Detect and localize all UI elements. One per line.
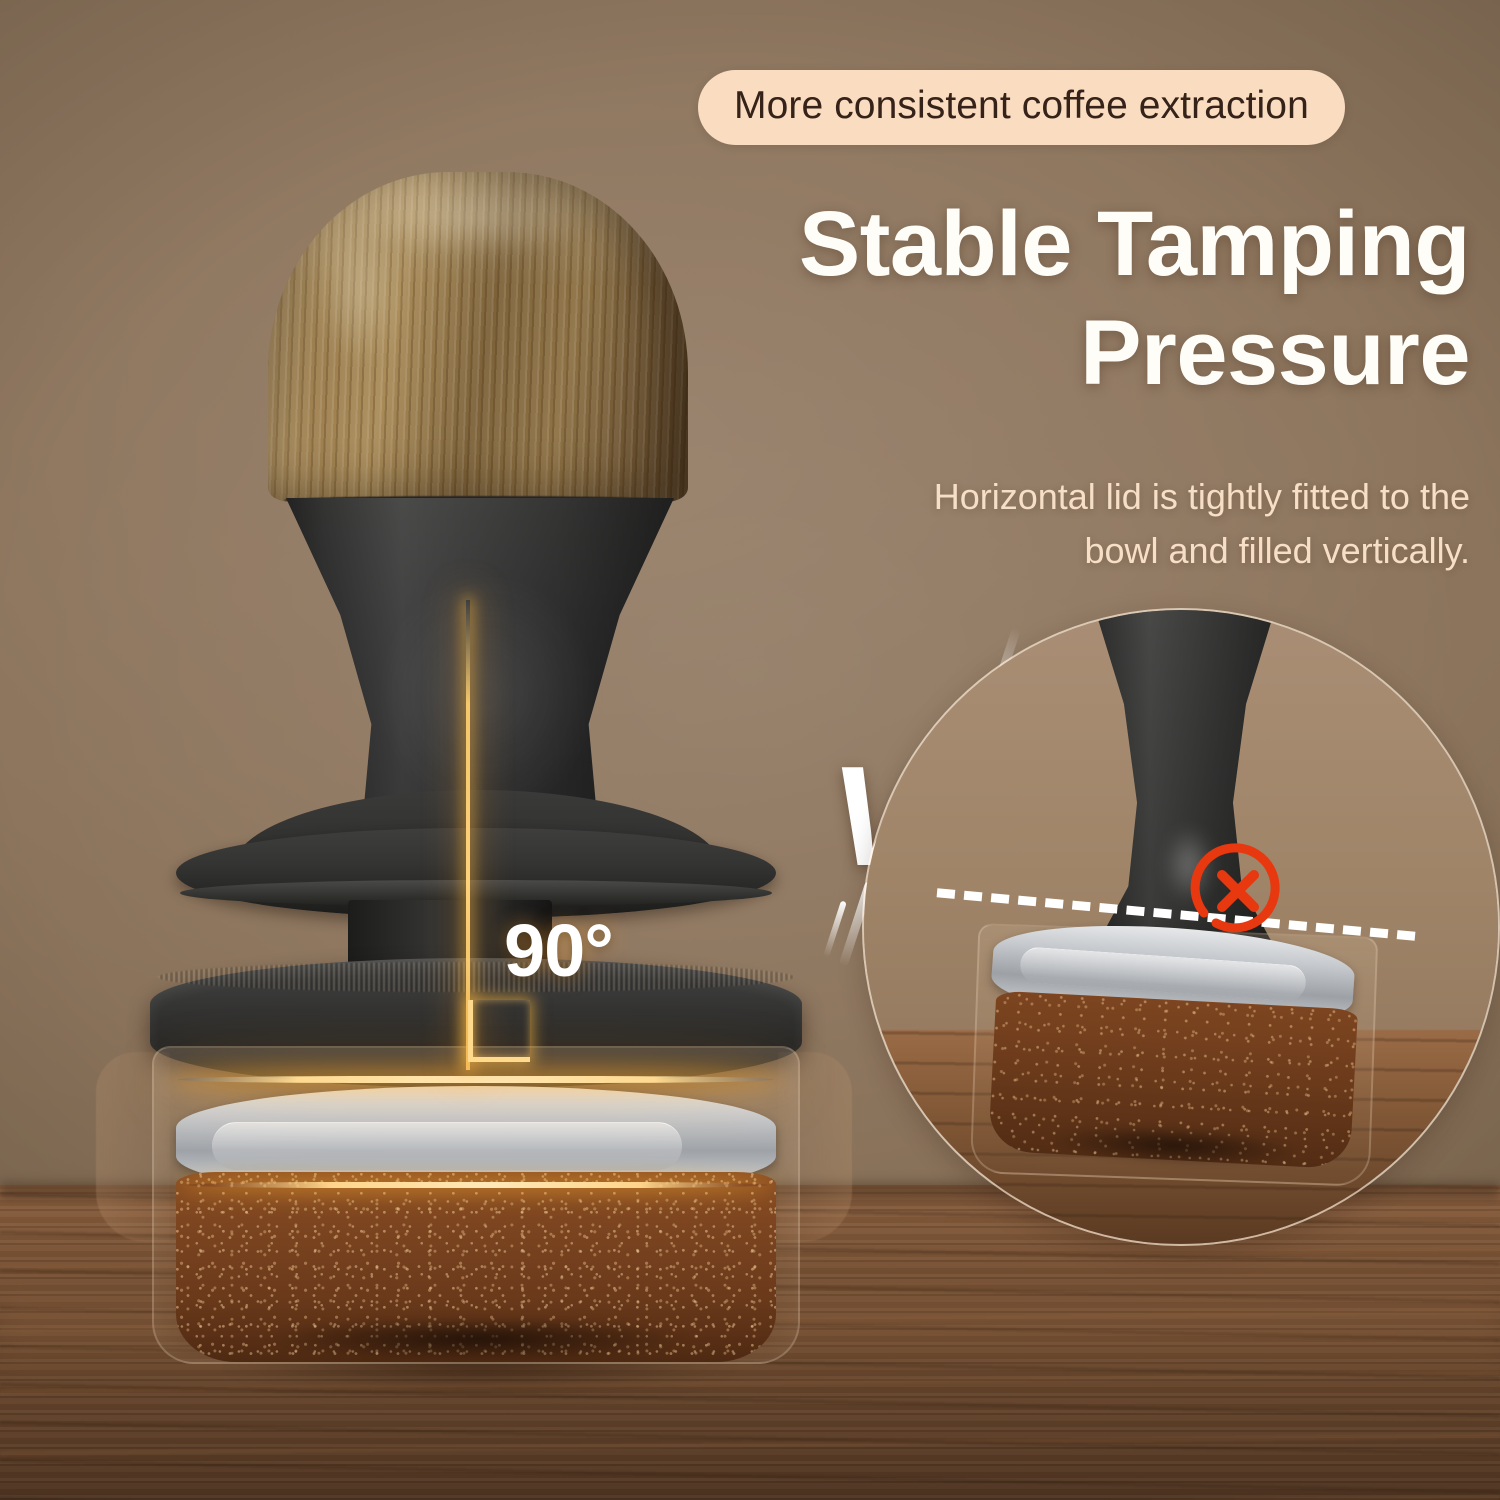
golden-puck-glow bbox=[186, 1182, 768, 1188]
coffee-puck-shadow bbox=[182, 1318, 772, 1370]
description-line-2: bowl and filled vertically. bbox=[640, 524, 1470, 578]
description-line-1: Horizontal lid is tightly fitted to the bbox=[640, 470, 1470, 524]
headline-line-1: Stable Tamping bbox=[600, 190, 1470, 299]
circle-x-icon bbox=[1182, 835, 1294, 947]
collar-knurl-texture bbox=[158, 962, 794, 992]
comparison-inset-circle bbox=[862, 608, 1500, 1246]
headline-line-2: Pressure bbox=[600, 299, 1470, 408]
feature-badge: More consistent coffee extraction bbox=[698, 70, 1345, 145]
knob-side-highlight bbox=[300, 200, 420, 420]
feature-description: Horizontal lid is tightly fitted to the … bbox=[640, 470, 1470, 578]
product-feature-image: 90° VS bbox=[0, 0, 1500, 1500]
golden-level-glow bbox=[178, 1076, 774, 1083]
inset-scene bbox=[864, 610, 1498, 1244]
right-angle-icon bbox=[468, 1000, 530, 1062]
page-title: Stable Tamping Pressure bbox=[600, 190, 1470, 407]
angle-label: 90° bbox=[504, 908, 613, 993]
stainless-base-groove bbox=[212, 1122, 682, 1170]
